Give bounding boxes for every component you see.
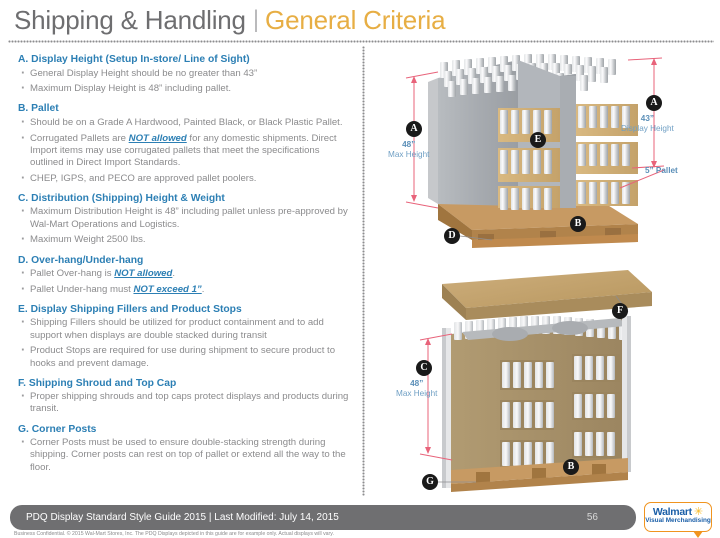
footer-title: PDQ Display Standard Style Guide 2015 | … [26, 512, 587, 523]
page-number: 56 [587, 512, 620, 523]
bullet-item: Product Stops are required for use durin… [18, 345, 352, 369]
bullet-item: Pallet Over-hang is NOT allowed. [18, 268, 352, 280]
bullet-text: Product Stops are required for use durin… [30, 345, 335, 368]
pallet-display-graphic [380, 48, 720, 253]
walmart-badge-subtitle: Visual Merchandising [645, 517, 711, 524]
page-header: Shipping & Handling | General Criteria [0, 0, 720, 40]
bullet-text: CHEP, IGPS, and PECO are approved pallet… [30, 173, 256, 184]
badge-b-pallet: B [570, 216, 586, 232]
dim-43-display-height: 43”Display Height [621, 114, 674, 134]
vertical-dotted-divider [362, 46, 365, 496]
section-bullets: Proper shipping shrouds and top caps pro… [18, 391, 352, 415]
badge-c-distribution-height: C [416, 360, 432, 376]
section-bullets: Should be on a Grade A Hardwood, Painted… [18, 117, 352, 185]
bullet-text: General Display Height should be no grea… [30, 68, 257, 79]
badge-d-overhang: D [444, 228, 460, 244]
section-heading-e: E. Display Shipping Fillers and Product … [18, 303, 352, 316]
section-heading-c: C. Distribution (Shipping) Height & Weig… [18, 192, 352, 205]
section-bullets: Shipping Fillers should be utilized for … [18, 317, 352, 369]
emphasis-text: NOT exceed 1” [133, 284, 201, 295]
criteria-section-g: G. Corner PostsCorner Posts must be used… [18, 423, 352, 474]
page-title: Shipping & Handling [14, 5, 246, 36]
criteria-section-a: A. Display Height (Setup In-store/ Line … [18, 53, 352, 95]
emphasis-text: NOT allowed [129, 133, 187, 144]
wooden-pallet [438, 204, 638, 248]
criteria-section-b: B. PalletShould be on a Grade A Hardwood… [18, 102, 352, 185]
display-front-face [498, 60, 638, 210]
title-separator: | [253, 6, 259, 34]
shrouded-pallet-graphic [380, 256, 720, 500]
section-bullets: General Display Height should be no grea… [18, 68, 352, 96]
bullet-item: Corner Posts must be used to ensure doub… [18, 437, 352, 474]
bullet-item: CHEP, IGPS, and PECO are approved pallet… [18, 173, 352, 185]
bullet-item: Maximum Weight 2500 lbs. [18, 234, 352, 246]
bullet-item: General Display Height should be no grea… [18, 68, 352, 80]
illustration-shrouded-pallet: F C B G 48”Max Height [380, 256, 720, 500]
illustration-pallet-display: A A E B D 48”Max Height 43”Display Heigh… [380, 48, 720, 253]
bullet-item: Corrugated Pallets are NOT allowed for a… [18, 133, 352, 170]
bullet-text: Pallet Under-hang must [30, 284, 133, 295]
badge-b-pallet-bottom: B [563, 459, 579, 475]
bullet-text: . [172, 268, 175, 279]
badge-e-fillers: E [530, 132, 546, 148]
section-heading-b: B. Pallet [18, 102, 352, 115]
bullet-item: Maximum Display Height is 48” including … [18, 83, 352, 95]
legal-disclaimer: Business Confidential. © 2015 Wal-Mart S… [14, 531, 714, 537]
page-subtitle: General Criteria [265, 5, 445, 36]
bullet-text: Should be on a Grade A Hardwood, Painted… [30, 117, 343, 128]
section-heading-f: F. Shipping Shroud and Top Cap [18, 377, 352, 390]
dim-48-max-height-bottom: 48”Max Height [396, 379, 437, 399]
walmart-spark-icon: ✳ [694, 508, 703, 517]
badge-a-display-height: A [646, 95, 662, 111]
criteria-section-c: C. Distribution (Shipping) Height & Weig… [18, 192, 352, 247]
criteria-section-e: E. Display Shipping Fillers and Product … [18, 303, 352, 370]
bullet-item: Pallet Under-hang must NOT exceed 1”. [18, 284, 352, 296]
style-guide-page: Shipping & Handling | General Criteria A… [0, 0, 720, 538]
dim-5-pallet: 5” Pallet [645, 166, 678, 176]
criteria-section-d: D. Over-hang/Under-hangPallet Over-hang … [18, 254, 352, 296]
badge-f-top-cap: F [612, 303, 628, 319]
bullet-text: Maximum Display Height is 48” including … [30, 83, 231, 94]
bullet-text: Corrugated Pallets are [30, 133, 129, 144]
section-bullets: Maximum Distribution Height is 48” inclu… [18, 206, 352, 246]
bullet-text: Proper shipping shrouds and top caps pro… [30, 391, 348, 414]
badge-g-corner-posts: G [422, 474, 438, 490]
criteria-list: A. Display Height (Setup In-store/ Line … [18, 53, 352, 481]
bullet-text: . [202, 284, 205, 295]
bullet-text: Corner Posts must be used to ensure doub… [30, 437, 346, 472]
walmart-visual-merchandising-badge: Walmart ✳ Visual Merchandising [644, 502, 712, 532]
footer-bar: PDQ Display Standard Style Guide 2015 | … [10, 505, 636, 530]
bullet-item: Should be on a Grade A Hardwood, Painted… [18, 117, 352, 129]
badge-a-max-height: A [406, 121, 422, 137]
bullet-text: Maximum Weight 2500 lbs. [30, 234, 146, 245]
criteria-section-f: F. Shipping Shroud and Top CapProper shi… [18, 377, 352, 416]
dim-48-max-height: 48”Max Height [388, 140, 429, 160]
section-bullets: Pallet Over-hang is NOT allowed.Pallet U… [18, 268, 352, 296]
section-bullets: Corner Posts must be used to ensure doub… [18, 437, 352, 474]
bullet-text: Pallet Over-hang is [30, 268, 114, 279]
bullet-text: Maximum Distribution Height is 48” inclu… [30, 206, 348, 229]
section-heading-a: A. Display Height (Setup In-store/ Line … [18, 53, 352, 66]
section-heading-g: G. Corner Posts [18, 423, 352, 436]
horizontal-dotted-divider [8, 40, 714, 43]
emphasis-text: NOT allowed [114, 268, 172, 279]
bullet-item: Proper shipping shrouds and top caps pro… [18, 391, 352, 415]
shipping-shroud-body [451, 316, 628, 484]
bullet-item: Shipping Fillers should be utilized for … [18, 317, 352, 341]
section-heading-d: D. Over-hang/Under-hang [18, 254, 352, 267]
bullet-text: Shipping Fillers should be utilized for … [30, 317, 324, 340]
bullet-item: Maximum Distribution Height is 48” inclu… [18, 206, 352, 230]
